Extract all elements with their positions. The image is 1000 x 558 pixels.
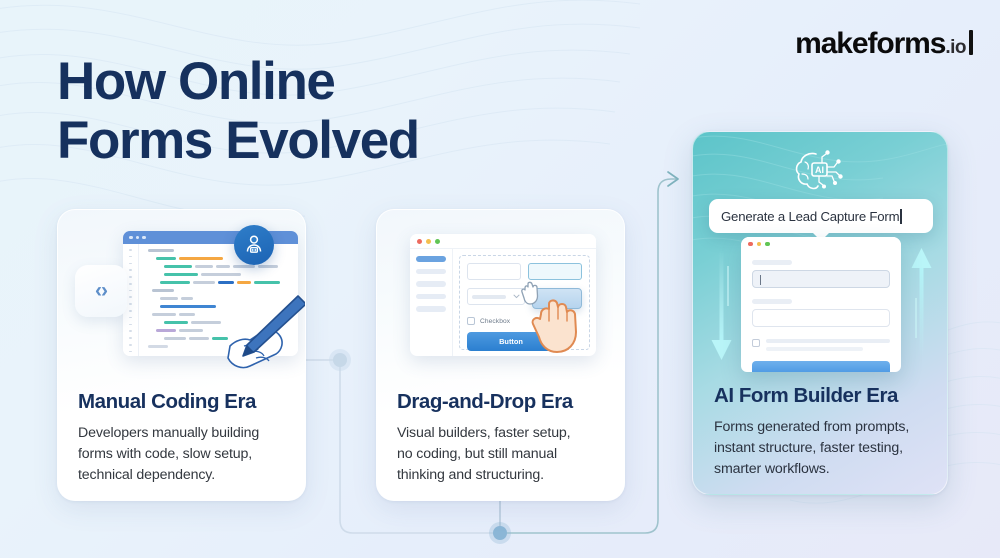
generated-form-window [741, 237, 901, 372]
card-1-description: Developers manually building forms with … [78, 423, 289, 486]
hand-with-pen-icon [210, 288, 306, 370]
card-1-text: Manual Coding Era Developers manually bu… [78, 390, 289, 486]
card-2-text: Drag-and-Drop Era Visual builders, faste… [397, 390, 608, 486]
connector-node-1-icon [333, 353, 347, 367]
ai-prompt-bubble[interactable]: Generate a Lead Capture Form [709, 199, 933, 233]
select-field [467, 288, 525, 305]
form-window-titlebar [741, 237, 901, 251]
card-2-description: Visual builders, faster setup, no coding… [397, 423, 608, 486]
card-3-title: AI Form Builder Era [714, 384, 933, 408]
card-2-title: Drag-and-Drop Era [397, 390, 608, 414]
form-submit-button[interactable] [752, 361, 890, 372]
checkbox-label: Checkbox [480, 318, 510, 325]
card-manual-coding-era[interactable]: ‹› Manual Coding Era Developers manually… [57, 209, 306, 501]
builder-window-titlebar [410, 234, 596, 249]
generated-form-body [741, 251, 901, 372]
page-title: How Online Forms Evolved [57, 52, 419, 171]
field-placeholder [467, 263, 521, 280]
form-input[interactable] [752, 309, 890, 327]
checkbox-icon[interactable] [467, 317, 475, 325]
pointer-cursor-icon [519, 278, 545, 308]
brand-logo[interactable]: makeforms .io [795, 27, 973, 61]
code-brackets-icon: ‹› [75, 265, 127, 317]
form-input-active[interactable] [752, 270, 890, 288]
card-2-illustration: Checkbox Button [377, 210, 624, 390]
card-3-illustration: AI Generate a Lead Capture Form [693, 132, 947, 384]
form-field-label [752, 260, 792, 265]
ai-icon-label: AI [815, 165, 824, 175]
builder-sidebar [410, 249, 453, 356]
ai-prompt-text: Generate a Lead Capture Form [721, 209, 899, 224]
card-ai-form-builder-era[interactable]: AI Generate a Lead Capture Form [692, 131, 948, 495]
glow-arrow-up-icon [907, 240, 937, 360]
form-checkbox-icon[interactable] [752, 339, 760, 347]
logo-caret-icon [969, 30, 973, 55]
ai-brain-circuit-icon: AI [789, 146, 851, 198]
logo-wordmark: makeforms [795, 27, 945, 61]
card-1-title: Manual Coding Era [78, 390, 289, 414]
connector-node-2-icon [493, 526, 507, 540]
form-field-label [752, 299, 792, 304]
infographic-canvas: How Online Forms Evolved makeforms .io [0, 0, 1000, 558]
glow-arrow-down-icon [707, 248, 737, 368]
logo-tld: .io [945, 37, 966, 59]
card-3-description: Forms generated from prompts, instant st… [714, 417, 933, 480]
developer-avatar-icon [234, 225, 274, 265]
card-drag-and-drop-era[interactable]: Checkbox Button Drag-and-Drop Era Visual… [376, 209, 625, 501]
card-1-illustration: ‹› [58, 210, 305, 390]
card-3-text: AI Form Builder Era Forms generated from… [714, 384, 933, 480]
text-cursor-icon [900, 209, 901, 224]
